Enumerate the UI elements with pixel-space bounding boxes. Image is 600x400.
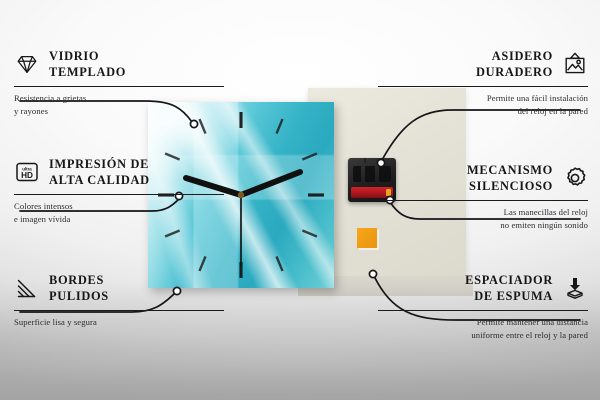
feature-title-line2: TEMPLADO xyxy=(49,64,126,80)
feature-title-line1: IMPRESIÓN DE xyxy=(49,156,150,172)
feature-header: ultra HD IMPRESIÓN DE ALTA CALIDAD xyxy=(14,156,224,189)
wire-dot-espaciador xyxy=(369,270,376,277)
feature-vidrio-templado: VIDRIO TEMPLADO Resistencia a grietas y … xyxy=(14,48,224,117)
feature-title-line1: ASIDERO xyxy=(476,48,553,64)
feature-desc-line1: Permite mantener una distancia xyxy=(378,316,588,328)
feature-title-line2: ALTA CALIDAD xyxy=(49,172,150,188)
feature-header: MECANISMO SILENCIOSO xyxy=(378,162,588,195)
feature-desc-line1: Resistencia a grietas xyxy=(14,92,224,104)
feature-title-line2: DURADERO xyxy=(476,64,553,80)
feature-desc-line2: del reloj en la pared xyxy=(378,105,588,117)
feature-title: VIDRIO TEMPLADO xyxy=(49,48,126,81)
svg-text:HD: HD xyxy=(21,171,33,180)
divider xyxy=(378,310,588,311)
feature-header: ESPACIADOR DE ESPUMA xyxy=(378,272,588,305)
divider xyxy=(14,86,224,87)
infographic-stage: VIDRIO TEMPLADO Resistencia a grietas y … xyxy=(0,0,600,400)
feature-espaciador-de-espuma: ESPACIADOR DE ESPUMA Permite mantener un… xyxy=(378,272,588,341)
feature-title-line1: BORDES xyxy=(49,272,109,288)
polished-edges-icon xyxy=(14,275,40,301)
feature-title: MECANISMO SILENCIOSO xyxy=(467,162,553,195)
feature-mecanismo-silencioso: MECANISMO SILENCIOSO Las manecillas del … xyxy=(378,162,588,231)
feature-title-line2: PULIDOS xyxy=(49,288,109,304)
feature-title-line1: VIDRIO xyxy=(49,48,126,64)
feature-description: Permite una fácil instalación del reloj … xyxy=(378,92,588,117)
feature-header: BORDES PULIDOS xyxy=(14,272,224,305)
divider xyxy=(14,194,224,195)
gear-icon xyxy=(562,165,588,191)
feature-desc-line1: Superficie lisa y segura xyxy=(14,316,224,328)
feature-desc-line2: no emiten ningún sonido xyxy=(378,219,588,231)
feature-title-line1: MECANISMO xyxy=(467,162,553,178)
hanging-picture-frame-icon xyxy=(562,51,588,77)
feature-desc-line1: Permite una fácil instalación xyxy=(378,92,588,104)
feature-description: Permite mantener una distancia uniforme … xyxy=(378,316,588,341)
feature-title-line2: SILENCIOSO xyxy=(467,178,553,194)
feature-title: ASIDERO DURADERO xyxy=(476,48,553,81)
ultra-hd-badge-icon: ultra HD xyxy=(14,159,40,185)
feature-desc-line2: e imagen vívida xyxy=(14,213,224,225)
divider xyxy=(378,86,588,87)
divider xyxy=(378,200,588,201)
feature-desc-line2: y rayones xyxy=(14,105,224,117)
feature-impresion-alta-calidad: ultra HD IMPRESIÓN DE ALTA CALIDAD Color… xyxy=(14,156,224,225)
feature-header: VIDRIO TEMPLADO xyxy=(14,48,224,81)
feature-asidero-duradero: ASIDERO DURADERO Permite una fácil insta… xyxy=(378,48,588,117)
diamond-icon xyxy=(14,51,40,77)
feature-title: BORDES PULIDOS xyxy=(49,272,109,305)
arrow-down-onto-pad-icon xyxy=(562,275,588,301)
feature-description: Las manecillas del reloj no emiten ningú… xyxy=(378,206,588,231)
feature-header: ASIDERO DURADERO xyxy=(378,48,588,81)
wire-asidero xyxy=(382,110,580,160)
feature-desc-line2: uniforme entre el reloj y la pared xyxy=(378,329,588,341)
feature-description: Resistencia a grietas y rayones xyxy=(14,92,224,117)
feature-bordes-pulidos: BORDES PULIDOS Superficie lisa y segura xyxy=(14,272,224,329)
feature-title: ESPACIADOR DE ESPUMA xyxy=(465,272,553,305)
feature-desc-line1: Las manecillas del reloj xyxy=(378,206,588,218)
feature-title-line2: DE ESPUMA xyxy=(465,288,553,304)
feature-title: IMPRESIÓN DE ALTA CALIDAD xyxy=(49,156,150,189)
feature-desc-line1: Colores intensos xyxy=(14,200,224,212)
wire-dot-vidrio xyxy=(190,120,197,127)
feature-title-line1: ESPACIADOR xyxy=(465,272,553,288)
feature-description: Superficie lisa y segura xyxy=(14,316,224,328)
feature-description: Colores intensos e imagen vívida xyxy=(14,200,224,225)
divider xyxy=(14,310,224,311)
